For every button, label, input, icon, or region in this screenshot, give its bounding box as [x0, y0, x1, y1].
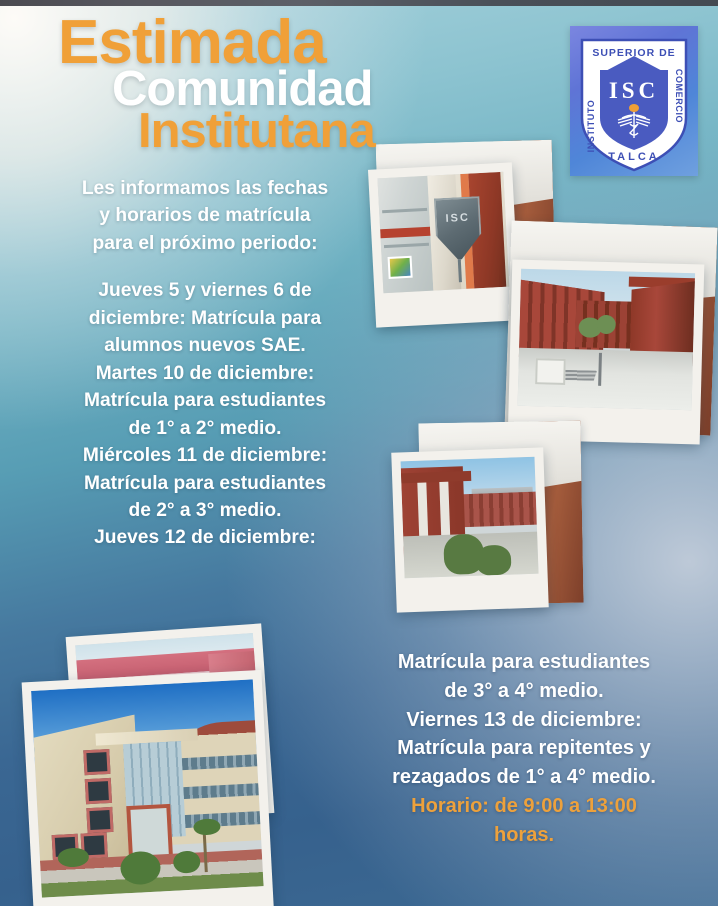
photo-entrance-crest-image: ISC [377, 172, 509, 293]
announcement-upper-text: Les informamos las fechas y horarios de … [40, 175, 370, 552]
schedule-line-2: diciembre: Matrícula para [40, 305, 370, 332]
photo-campus-building [22, 670, 275, 906]
schedule-line-9: de 2° a 3° medio. [40, 497, 370, 524]
top-edge-strip [0, 0, 718, 6]
schedule-line-4: Martes 10 de diciembre: [40, 360, 370, 387]
photo-courtyard-columns-image [401, 457, 539, 579]
schedule-line-1: Jueves 5 y viernes 6 de [40, 277, 370, 304]
heading-line-3: Institutana [0, 109, 440, 154]
lower-line-2: de 3° a 4° medio. [332, 677, 716, 706]
lower-line-5: rezagados de 1° a 4° medio. [332, 763, 716, 792]
crest-text-top: SUPERIOR DE [592, 47, 675, 59]
lower-line-4: Matrícula para repitentes y [332, 734, 716, 763]
schedule-line-7: Miércoles 11 de diciembre: [40, 442, 370, 469]
photo-campus-building-image [31, 679, 264, 897]
photo-courtyard-court [508, 260, 705, 445]
schedule-line-10: Jueves 12 de diciembre: [40, 524, 370, 551]
schedule-line-6: de 1° a 2° medio. [40, 415, 370, 442]
crest-monogram: ISC [609, 78, 659, 103]
intro-line-3: para el próximo periodo: [40, 230, 370, 257]
horario-line-1: Horario: de 9:00 a 13:00 [332, 792, 716, 821]
intro-line-2: y horarios de matrícula [40, 202, 370, 229]
schedule-line-5: Matrícula para estudiantes [40, 387, 370, 414]
intro-line-1: Les informamos las fechas [40, 175, 370, 202]
poster-canvas: Estimada Comunidad Institutana SUPERIOR … [0, 0, 718, 906]
photo-courtyard-columns [391, 447, 548, 612]
crest-text-bottom: TALCA [608, 151, 659, 163]
horario-line-2: horas. [332, 821, 716, 850]
lower-line-3: Viernes 13 de diciembre: [332, 706, 716, 735]
text-spacer [40, 257, 370, 277]
crest-text-left: INSTITUTO [586, 100, 596, 153]
photo-entrance-crest: ISC [368, 162, 520, 327]
schedule-line-3: alumnos nuevos SAE. [40, 332, 370, 359]
lower-line-1: Matrícula para estudiantes [332, 648, 716, 677]
school-crest-logo: SUPERIOR DE INSTITUTO COMERCIO ISC TALCA [570, 26, 698, 176]
crest-icon: SUPERIOR DE INSTITUTO COMERCIO ISC TALCA [570, 26, 698, 176]
schedule-line-8: Matrícula para estudiantes [40, 470, 370, 497]
announcement-lower-text: Matrícula para estudiantes de 3° a 4° me… [332, 648, 716, 850]
crest-text-right: COMERCIO [674, 69, 684, 123]
page-title: Estimada Comunidad Institutana [0, 14, 440, 154]
photo-courtyard-court-image [518, 269, 696, 411]
